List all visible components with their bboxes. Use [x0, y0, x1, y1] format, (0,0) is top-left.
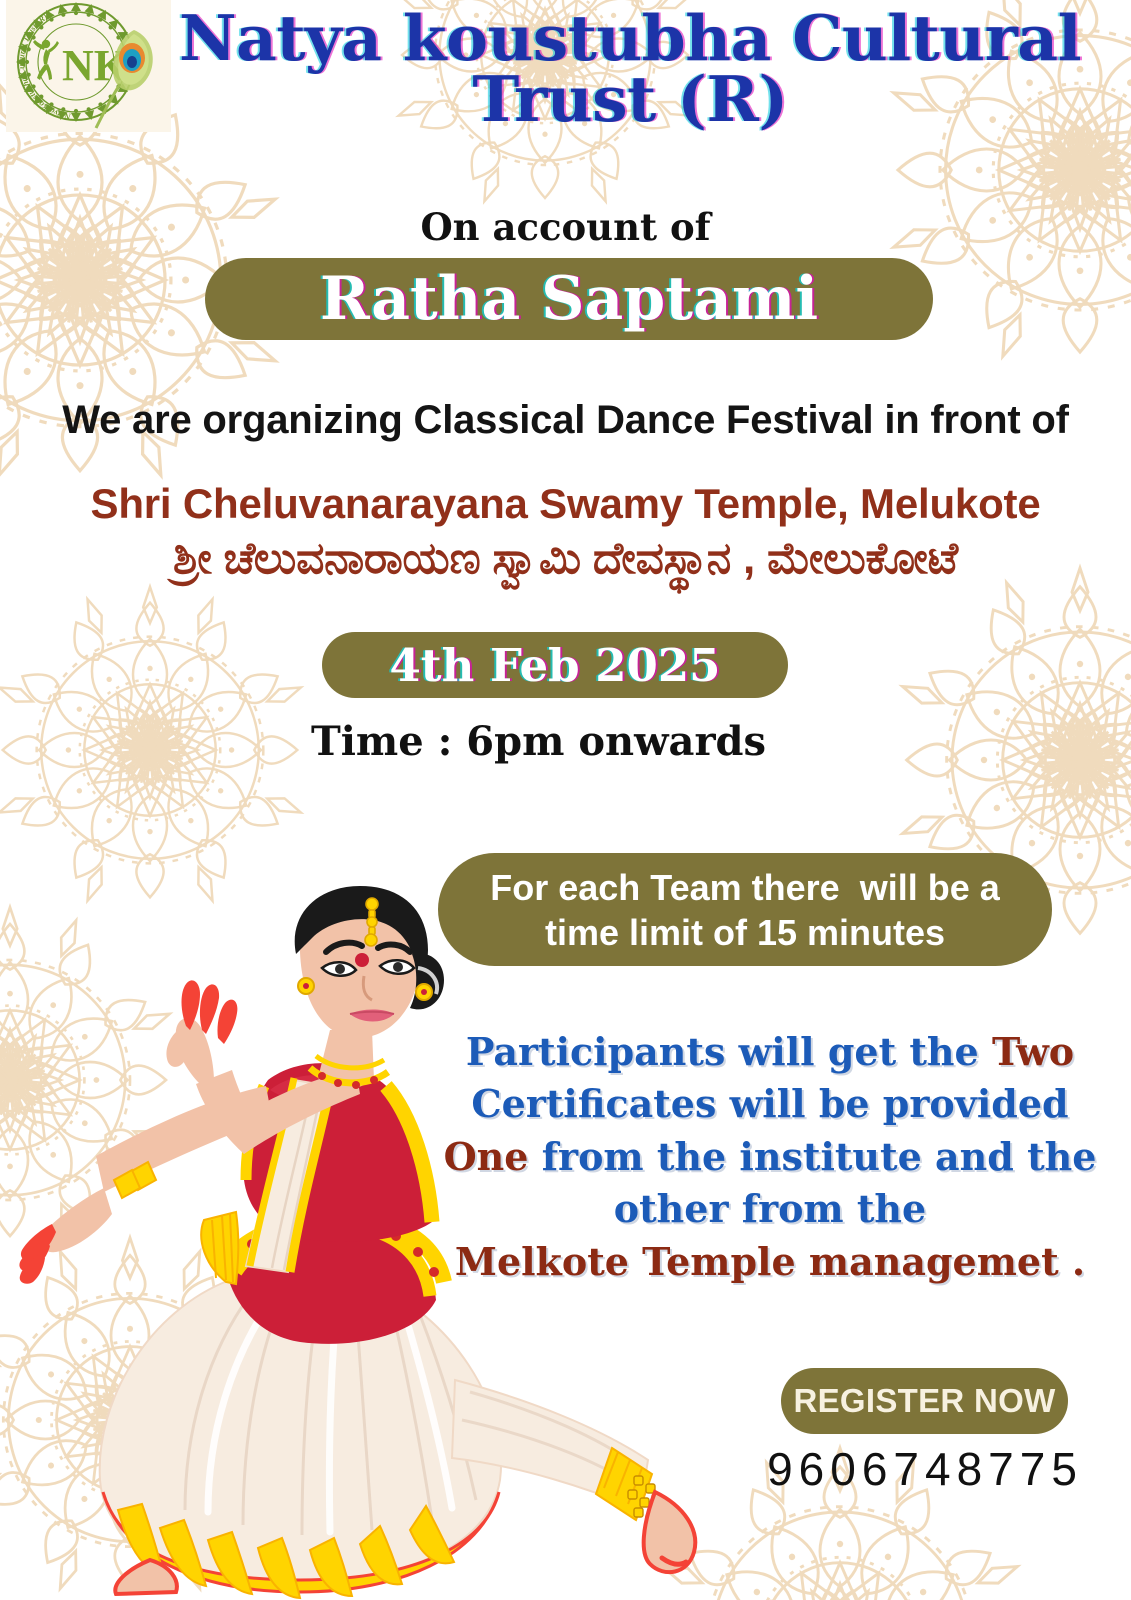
occasion-label: On account of: [0, 205, 1131, 249]
page-title: Natya koustubha Cultural Trust (R): [150, 8, 1110, 130]
certificates-note: Participants will get the Two Certificat…: [430, 1026, 1110, 1288]
contact-phone-number[interactable]: 9606748775: [740, 1442, 1110, 1496]
certificates-l1b: Two: [992, 1029, 1074, 1074]
event-date-badge: 4th Feb 2025: [322, 632, 788, 698]
venue-kannada: ಶ್ರೀ ಚೆಲುವನಾರಾಯಣ ಸ್ವಾಮಿ ದೇವಸ್ಥಾನ , ಮೇಲುಕ…: [0, 534, 1131, 584]
festival-name-badge: Ratha Saptami: [205, 258, 933, 340]
title-line-1: Natya koustubha Cultural: [150, 8, 1110, 69]
event-time: Time : 6pm onwards: [0, 718, 1077, 765]
logo-dancer-icon: [33, 40, 59, 80]
certificates-line-3: One from the institute and the: [430, 1131, 1110, 1183]
certificates-l3a: One: [444, 1134, 529, 1179]
mandala-left-lower: [0, 900, 190, 1260]
poster-canvas: Natya Koustubha Cultural Trust (R) NK: [0, 0, 1131, 1600]
time-limit-line-1: For each Team there will be a: [490, 865, 1000, 910]
certificates-line-2: Certificates will be provided: [430, 1078, 1110, 1130]
venue-english: Shri Cheluvanarayana Swamy Temple, Meluk…: [0, 480, 1131, 528]
festival-name-text: Ratha Saptami: [320, 269, 818, 329]
title-line-2: Trust (R): [150, 69, 1110, 130]
organizing-line: We are organizing Classical Dance Festiv…: [0, 398, 1131, 443]
certificates-l1a: Participants will get the: [466, 1029, 992, 1074]
time-limit-line-2: time limit of 15 minutes: [545, 910, 945, 955]
event-date-text: 4th Feb 2025: [390, 643, 721, 688]
certificates-l3b: from the institute and the: [528, 1134, 1096, 1179]
certificates-line-5: Melkote Temple managemet .: [430, 1236, 1110, 1288]
mandala-bottom-left: [0, 1230, 320, 1600]
certificates-line-1: Participants will get the Two: [430, 1026, 1110, 1078]
certificates-line-4: other from the: [430, 1183, 1110, 1235]
register-now-label: REGISTER NOW: [793, 1382, 1055, 1420]
register-now-button[interactable]: REGISTER NOW: [781, 1368, 1068, 1434]
time-limit-badge: For each Team there will be a time limit…: [438, 853, 1052, 966]
trust-logo: Natya Koustubha Cultural Trust (R) NK: [6, 0, 171, 132]
